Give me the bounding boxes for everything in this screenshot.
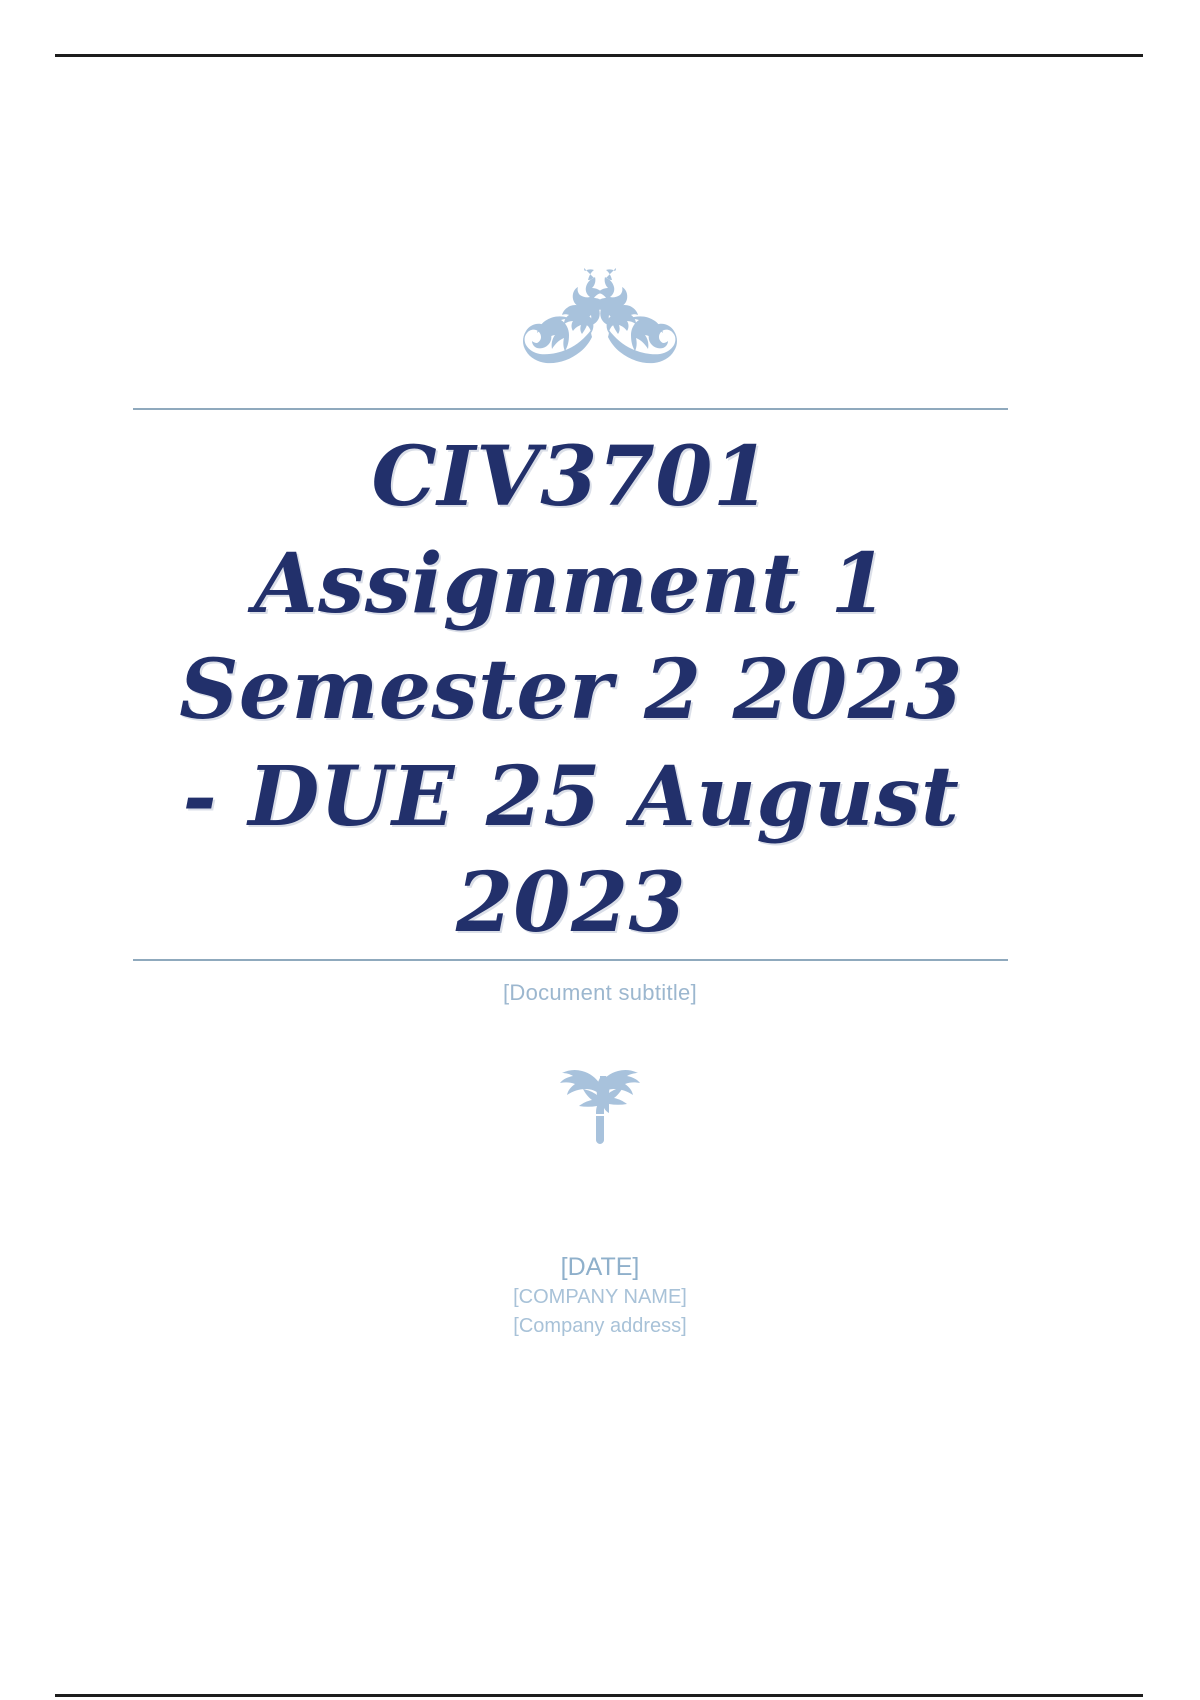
title-line-3: Semester 2 2023 — [130, 637, 1012, 744]
footer-block: [DATE] [COMPANY NAME] [Company address] — [0, 1252, 1200, 1341]
document-cover-page: CIV3701 Assignment 1 Semester 2 2023 - D… — [0, 0, 1200, 1700]
small-leaf-flourish-ornament — [0, 1048, 1200, 1144]
double-acanthus-flourish-ornament — [0, 262, 1200, 392]
title-line-1: CIV3701 — [130, 424, 1012, 531]
title-block: CIV3701 Assignment 1 Semester 2 2023 - D… — [130, 424, 1012, 957]
title-divider-top — [133, 408, 1008, 410]
company-name: [COMPANY NAME] — [0, 1283, 1200, 1312]
company-address: [Company address] — [0, 1312, 1200, 1341]
document-subtitle: [Document subtitle] — [0, 980, 1200, 1006]
title-line-5: 2023 — [130, 850, 1012, 957]
title-divider-bottom — [133, 959, 1008, 961]
document-date: [DATE] — [0, 1252, 1200, 1283]
title-line-2: Assignment 1 — [130, 531, 1012, 638]
page-title: CIV3701 Assignment 1 Semester 2 2023 - D… — [130, 424, 1012, 957]
page-top-border-rule — [55, 54, 1143, 57]
page-bottom-border-rule — [55, 1694, 1143, 1697]
title-line-4: - DUE 25 August — [130, 744, 1012, 851]
